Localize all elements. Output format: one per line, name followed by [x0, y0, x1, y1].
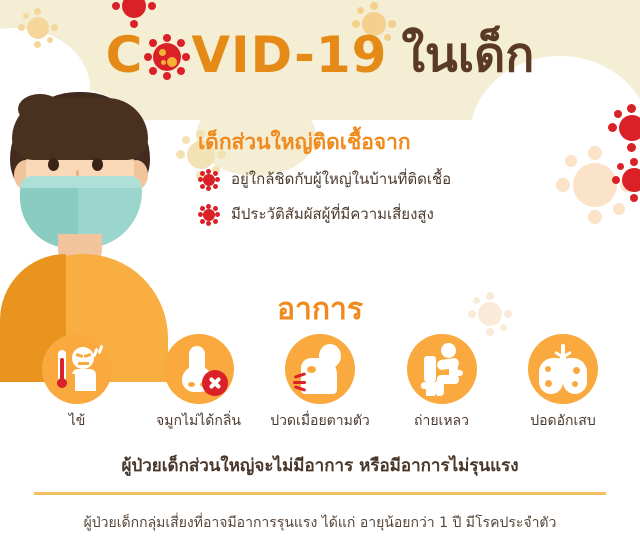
symptom-label: ไข้ — [22, 413, 132, 431]
infographic-poster: C VID-19 ในเด็ก — [0, 0, 640, 549]
title-thai-text: ในเด็ก — [401, 31, 534, 79]
symptom-label: ถ่ายเหลว — [387, 413, 497, 431]
symptom-item: จมูกไม่ได้กลิ่น — [144, 334, 254, 431]
list-item: อยู่ใกล้ชิดกับผู้ใหญ่ในบ้านที่ติดเชื้อ — [198, 169, 628, 191]
symptom-item: ไข้ — [22, 334, 132, 431]
symptom-item: ถ่ายเหลว — [387, 334, 497, 431]
diarrhea-toilet-icon — [407, 334, 477, 404]
infection-heading: เด็กส่วนใหญ่ติดเชื้อจาก — [198, 130, 628, 155]
divider — [34, 492, 606, 495]
body-ache-icon — [285, 334, 355, 404]
symptom-label: ปวดเมื่อยตามตัว — [265, 413, 375, 431]
coronavirus-bullet-icon — [198, 169, 220, 191]
coronavirus-icon — [144, 34, 190, 80]
footer-statement: ผู้ป่วยเด็กส่วนใหญ่จะไม่มีอาการ หรือมีอา… — [0, 452, 640, 479]
child-wearing-mask-illustration — [0, 92, 172, 288]
list-item: มีประวัติสัมผัสผู้ที่มีความเสี่ยงสูง — [198, 204, 628, 226]
symptoms-row: ไข้ จมูกไม่ได้กลิ่น — [0, 334, 640, 431]
symptom-label: ปอดอักเสบ — [508, 413, 618, 431]
infection-section: เด็กส่วนใหญ่ติดเชื้อจาก อยู่ใกล้ชิดกับผู… — [198, 130, 628, 239]
page-title: C VID-19 ในเด็ก — [0, 22, 640, 88]
footer-note: ผู้ป่วยเด็กกลุ่มเสี่ยงที่อาจมีอาการรุนแร… — [0, 512, 640, 534]
nose-no-smell-icon — [164, 334, 234, 404]
symptom-label: จมูกไม่ได้กลิ่น — [144, 413, 254, 431]
list-item-label: มีประวัติสัมผัสผู้ที่มีความเสี่ยงสูง — [231, 205, 434, 225]
title-covid-text: C VID-19 — [106, 30, 388, 80]
coronavirus-bullet-icon — [198, 204, 220, 226]
symptom-item: ปอดอักเสบ — [508, 334, 618, 431]
lungs-pneumonia-icon — [528, 334, 598, 404]
list-item-label: อยู่ใกล้ชิดกับผู้ใหญ่ในบ้านที่ติดเชื้อ — [231, 170, 451, 190]
symptom-item: ปวดเมื่อยตามตัว — [265, 334, 375, 431]
fever-thermometer-icon — [42, 334, 112, 404]
symptoms-heading: อาการ — [0, 286, 640, 333]
